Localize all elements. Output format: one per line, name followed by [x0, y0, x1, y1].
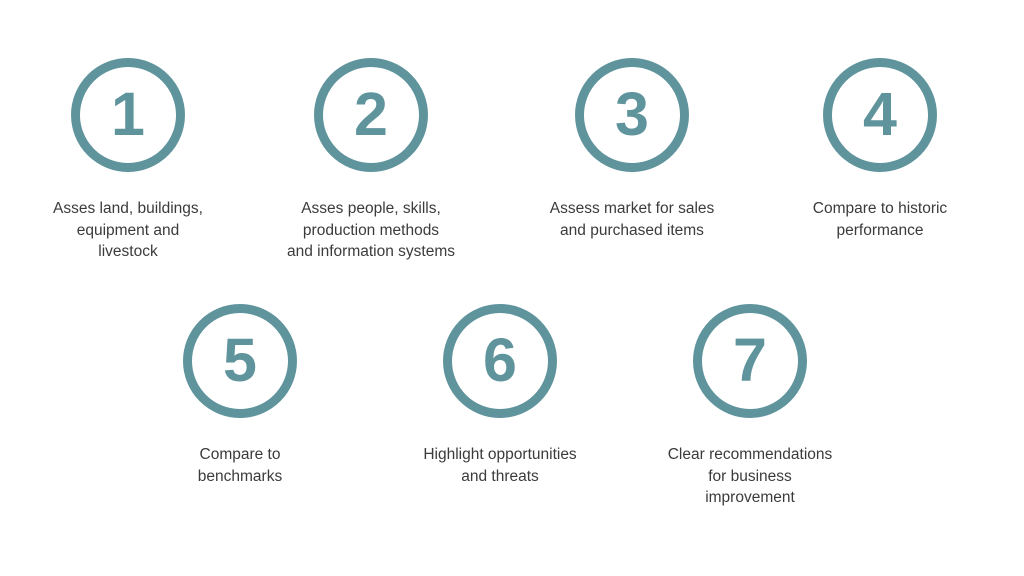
step-badge-6: 6: [443, 304, 557, 418]
step-caption-3: Assess market for sales and purchased it…: [550, 198, 715, 241]
step-number-3: 3: [615, 84, 649, 145]
step-number-7: 7: [733, 330, 767, 391]
step-item-3: 3 Assess market for sales and purchased …: [512, 58, 752, 241]
step-badge-2: 2: [314, 58, 428, 172]
step-item-2: 2 Asses people, skills, production metho…: [251, 58, 491, 263]
step-number-4: 4: [863, 84, 897, 145]
step-number-2: 2: [354, 84, 388, 145]
step-caption-7: Clear recommendations for business impro…: [668, 444, 833, 509]
step-item-7: 7 Clear recommendations for business imp…: [630, 304, 870, 509]
step-item-1: 1 Asses land, buildings, equipment and l…: [8, 58, 248, 263]
step-caption-1: Asses land, buildings, equipment and liv…: [53, 198, 203, 263]
diagram-canvas: 1 Asses land, buildings, equipment and l…: [0, 0, 1024, 576]
step-caption-2: Asses people, skills, production methods…: [287, 198, 455, 263]
step-item-6: 6 Highlight opportunities and threats: [380, 304, 620, 487]
step-item-5: 5 Compare to benchmarks: [120, 304, 360, 487]
step-caption-4: Compare to historic performance: [813, 198, 947, 241]
step-badge-5: 5: [183, 304, 297, 418]
step-badge-4: 4: [823, 58, 937, 172]
step-badge-1: 1: [71, 58, 185, 172]
step-caption-6: Highlight opportunities and threats: [423, 444, 576, 487]
step-caption-5: Compare to benchmarks: [198, 444, 282, 487]
step-item-4: 4 Compare to historic performance: [760, 58, 1000, 241]
step-badge-7: 7: [693, 304, 807, 418]
step-number-1: 1: [111, 84, 145, 145]
step-number-6: 6: [483, 330, 517, 391]
step-number-5: 5: [223, 330, 257, 391]
step-badge-3: 3: [575, 58, 689, 172]
